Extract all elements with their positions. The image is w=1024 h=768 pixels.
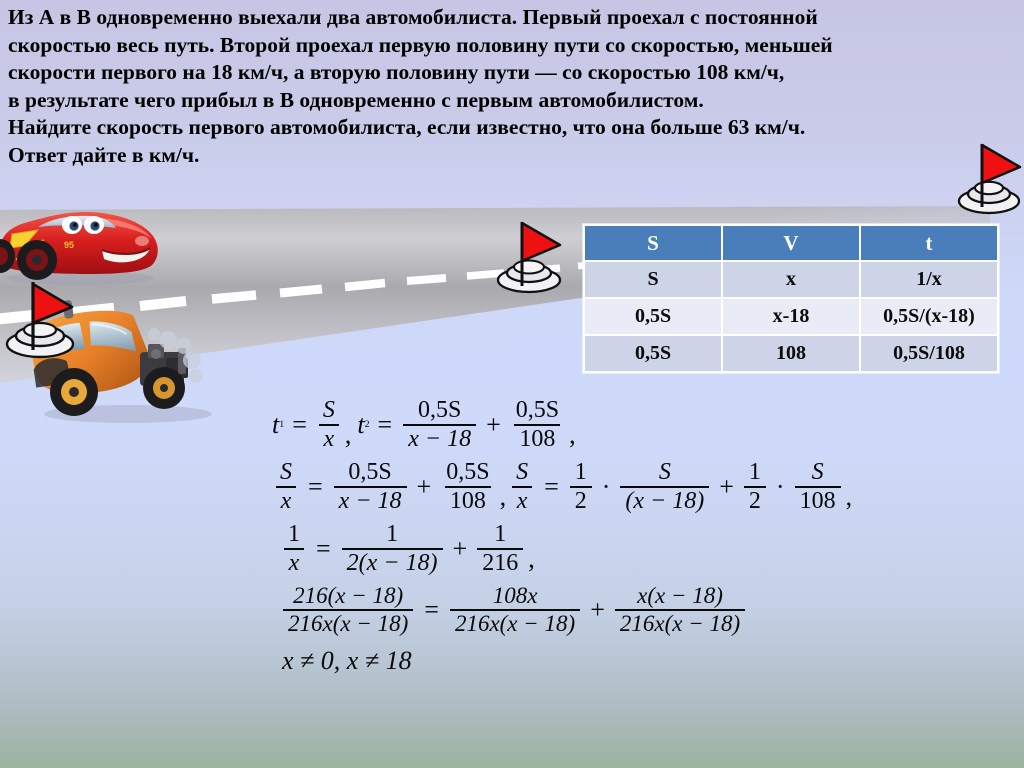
math-line-2: S x = 0,5S x − 18 + 0,5S 108 , S x = 1 2 <box>272 460 852 514</box>
flag-mid <box>495 220 567 298</box>
plus-sign-2: + <box>712 472 741 502</box>
multiplication-dot: · <box>595 472 618 502</box>
fraction-s-over-x-2: S x <box>275 460 297 514</box>
fraction-108x-common-denom: 108x 216x(x − 18) <box>450 584 580 636</box>
math-derivation: t1 = S x , t2 = 0,5S x − 18 + 0,5S 108 ,… <box>272 398 852 684</box>
table-header-t: t <box>861 226 997 260</box>
cell-v-row1: x <box>723 262 859 297</box>
cell-s-row3: 0,5S <box>585 336 721 371</box>
t1-symbol: t <box>272 410 279 440</box>
math-line-1: t1 = S x , t2 = 0,5S x − 18 + 0,5S 108 , <box>272 398 852 452</box>
fraction-s-over-paren-x-minus-18: S (x − 18) <box>620 460 709 514</box>
fraction-216-common-denom: 216(x − 18) 216x(x − 18) <box>283 584 413 636</box>
equals-sign: = <box>308 534 339 564</box>
fraction-half-s-over-x-minus-18: 0,5S x − 18 <box>403 398 476 452</box>
plus-sign: + <box>583 595 612 625</box>
plus-sign: + <box>446 534 475 564</box>
math-line-5: x ≠ 0, x ≠ 18 <box>272 644 852 676</box>
equals-sign: = <box>284 410 315 440</box>
plus-sign: + <box>410 472 439 502</box>
cell-t-row1: 1/x <box>861 262 997 297</box>
equals-sign: = <box>416 595 447 625</box>
table-header-row: S V t <box>585 226 997 260</box>
svt-table-wrapper: S V t S x 1/x 0,5S x-18 0,5S/(x-18) 0,5S <box>583 224 999 373</box>
table-row: 0,5S 108 0,5S/108 <box>585 336 997 371</box>
comma: , <box>498 482 507 514</box>
table-row: 0,5S x-18 0,5S/(x-18) <box>585 299 997 334</box>
comma: , <box>343 420 352 452</box>
fraction-s-over-108: S 108 <box>795 460 841 514</box>
fraction-half-s-over-108: 0,5S 108 <box>511 398 564 452</box>
problem-line-4: в результате чего прибыл в В одновременн… <box>8 87 1018 115</box>
equals-sign-2: = <box>370 410 401 440</box>
problem-line-5: Найдите скорость первого автомобилиста, … <box>8 114 1018 142</box>
fraction-one-over-216: 1 216 <box>477 522 523 576</box>
fraction-one-over-x: 1 x <box>283 522 305 576</box>
problem-statement: Из А в В одновременно выехали два автомо… <box>8 4 1018 169</box>
cell-v-row3: 108 <box>723 336 859 371</box>
math-line-4: 216(x − 18) 216x(x − 18) = 108x 216x(x −… <box>280 584 852 636</box>
table-header-s: S <box>585 226 721 260</box>
flag-left <box>4 280 80 362</box>
multiplication-dot-2: · <box>769 472 792 502</box>
problem-line-6: Ответ дайте в км/ч. <box>8 142 1018 170</box>
problem-line-3: скорости первого на 18 км/ч, а вторую по… <box>8 59 1018 87</box>
table-header-v: V <box>723 226 859 260</box>
fraction-s-over-x-3: S x <box>511 460 533 514</box>
cell-t-row3: 0,5S/108 <box>861 336 997 371</box>
problem-line-2: скоростью весь путь. Второй проехал перв… <box>8 32 1018 60</box>
red-race-car: 95 <box>0 194 162 286</box>
t2-symbol: t <box>357 410 364 440</box>
fraction-half-s-over-x-minus-18-2: 0,5S x − 18 <box>334 460 407 514</box>
cell-s-row1: S <box>585 262 721 297</box>
table-row: S x 1/x <box>585 262 997 297</box>
math-line-3: 1 x = 1 2(x − 18) + 1 216 , <box>280 522 852 576</box>
svg-text:95: 95 <box>64 240 74 250</box>
svt-table: S V t S x 1/x 0,5S x-18 0,5S/(x-18) 0,5S <box>583 224 999 373</box>
cell-s-row2: 0,5S <box>585 299 721 334</box>
plus-sign: + <box>479 410 508 440</box>
fraction-one-over-2x-minus-18: 1 2(x − 18) <box>342 522 443 576</box>
comma: , <box>526 544 535 576</box>
comma-2: , <box>844 482 853 514</box>
slide-canvas: Из А в В одновременно выехали два автомо… <box>0 0 1024 768</box>
fraction-one-half: 1 2 <box>570 460 592 514</box>
problem-line-1: Из А в В одновременно выехали два автомо… <box>8 4 1018 32</box>
fraction-half-s-over-108-2: 0,5S 108 <box>441 460 494 514</box>
fraction-x-x-minus-18-common-denom: x(x − 18) 216x(x − 18) <box>615 584 745 636</box>
cell-v-row2: x-18 <box>723 299 859 334</box>
cell-t-row2: 0,5S/(x-18) <box>861 299 997 334</box>
fraction-one-half-2: 1 2 <box>744 460 766 514</box>
fraction-s-over-x: S x <box>318 398 340 452</box>
domain-restriction: x ≠ 0, x ≠ 18 <box>282 646 412 676</box>
equals-sign: = <box>300 472 331 502</box>
comma-2: , <box>567 420 576 452</box>
equals-sign-2: = <box>536 472 567 502</box>
